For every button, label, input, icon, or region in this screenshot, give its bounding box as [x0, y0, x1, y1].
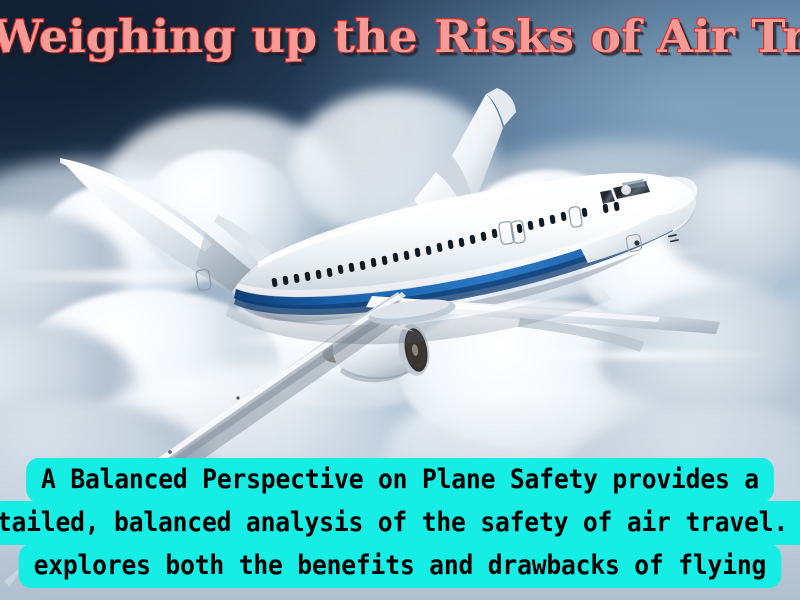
caption-line-3: explores both the benefits and drawbacks… — [19, 544, 781, 588]
poster-canvas: Weighing up the Risks of Air Travel A Ba… — [0, 0, 800, 600]
caption-block: A Balanced Perspective on Plane Safety p… — [0, 458, 800, 588]
page-title: Weighing up the Risks of Air Travel — [0, 14, 800, 59]
caption-line-2: detailed, balanced analysis of the safet… — [0, 501, 800, 545]
title-banner: Weighing up the Risks of Air Travel — [0, 14, 800, 59]
caption-line-1: A Balanced Perspective on Plane Safety p… — [26, 458, 774, 502]
